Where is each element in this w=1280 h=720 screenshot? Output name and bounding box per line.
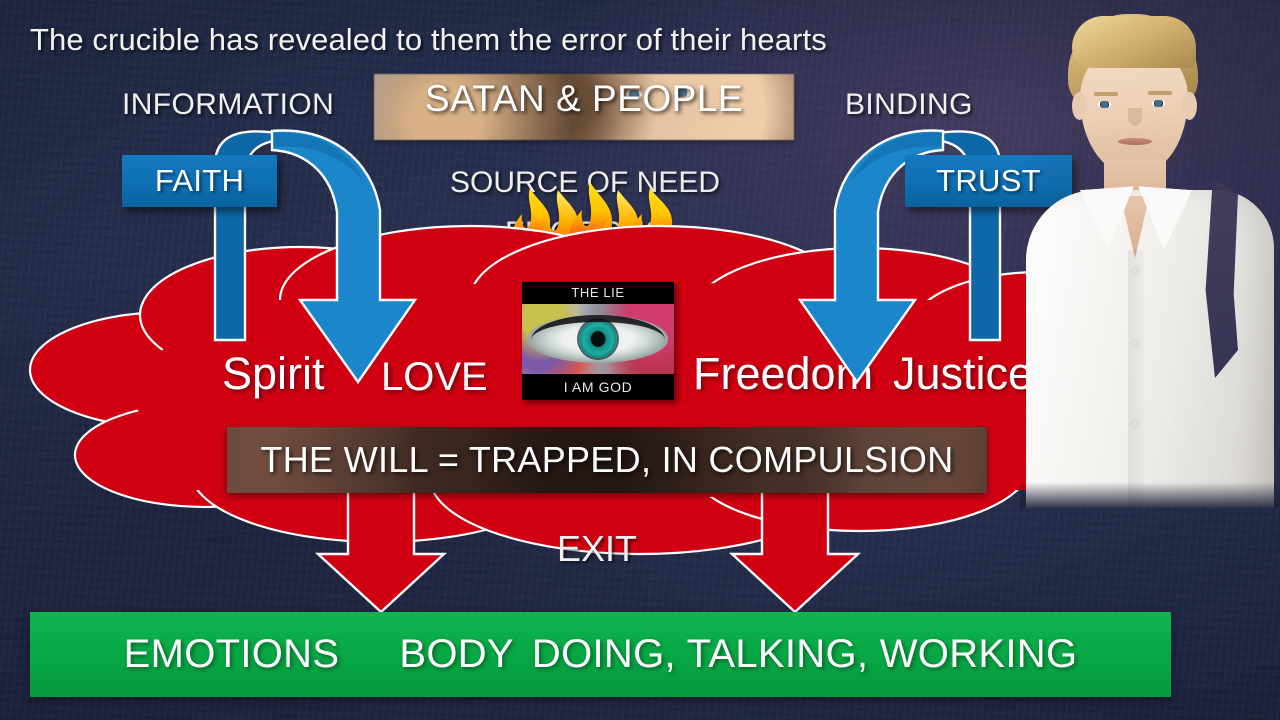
presenter-eye-left bbox=[1098, 101, 1111, 108]
slide-canvas: The crucible has revealed to them the er… bbox=[0, 0, 1280, 720]
lie-card-title: THE LIE bbox=[522, 282, 674, 304]
faith-box[interactable]: FAITH bbox=[122, 155, 277, 207]
bottom-green-bar: EMOTIONS BODY DOING, TALKING, WORKING bbox=[30, 612, 1171, 697]
presenter-photo bbox=[1020, 0, 1280, 508]
label-binding: BINDING bbox=[845, 88, 973, 122]
presenter-button-2 bbox=[1132, 340, 1139, 347]
cloud-word-spirit: Spirit bbox=[222, 348, 325, 400]
lie-card-caption: I AM GOD bbox=[522, 374, 674, 400]
the-lie-card: THE LIE I AM GOD bbox=[522, 282, 674, 400]
cloud-word-freedom: Freedom bbox=[693, 348, 873, 400]
label-exit: EXIT bbox=[492, 528, 702, 570]
cloud-word-justice: Justice bbox=[893, 348, 1033, 400]
presenter-ear-left bbox=[1072, 92, 1087, 120]
label-satan-people: SATAN & PEOPLE bbox=[374, 78, 794, 120]
page-title: The crucible has revealed to them the er… bbox=[30, 22, 827, 58]
presenter-brow-right bbox=[1148, 91, 1172, 95]
eye-icon bbox=[522, 304, 674, 374]
will-banner: THE WILL = TRAPPED, IN COMPULSION bbox=[227, 427, 987, 493]
cloud-word-love: LOVE bbox=[381, 355, 488, 400]
green-bar-item-doing: DOING, TALKING, WORKING bbox=[532, 632, 1077, 677]
label-information: INFORMATION bbox=[122, 88, 334, 122]
presenter-nose bbox=[1128, 108, 1142, 126]
presenter-bottom-fade bbox=[1020, 482, 1280, 508]
presenter-fringe bbox=[1072, 16, 1196, 68]
presenter-placket bbox=[1128, 250, 1144, 508]
green-bar-item-body: BODY bbox=[399, 632, 514, 677]
presenter-button-1 bbox=[1132, 268, 1139, 275]
presenter-brow-left bbox=[1094, 92, 1118, 96]
green-bar-item-emotions: EMOTIONS bbox=[124, 632, 340, 677]
presenter-mouth bbox=[1118, 138, 1152, 145]
presenter-ear-right bbox=[1182, 92, 1197, 120]
eye-lash bbox=[531, 315, 665, 340]
faith-box-label: FAITH bbox=[155, 163, 244, 199]
presenter-button-3 bbox=[1132, 420, 1139, 427]
flame-icon bbox=[500, 176, 690, 258]
presenter-eye-right bbox=[1152, 100, 1165, 107]
will-banner-label: THE WILL = TRAPPED, IN COMPULSION bbox=[260, 439, 953, 481]
